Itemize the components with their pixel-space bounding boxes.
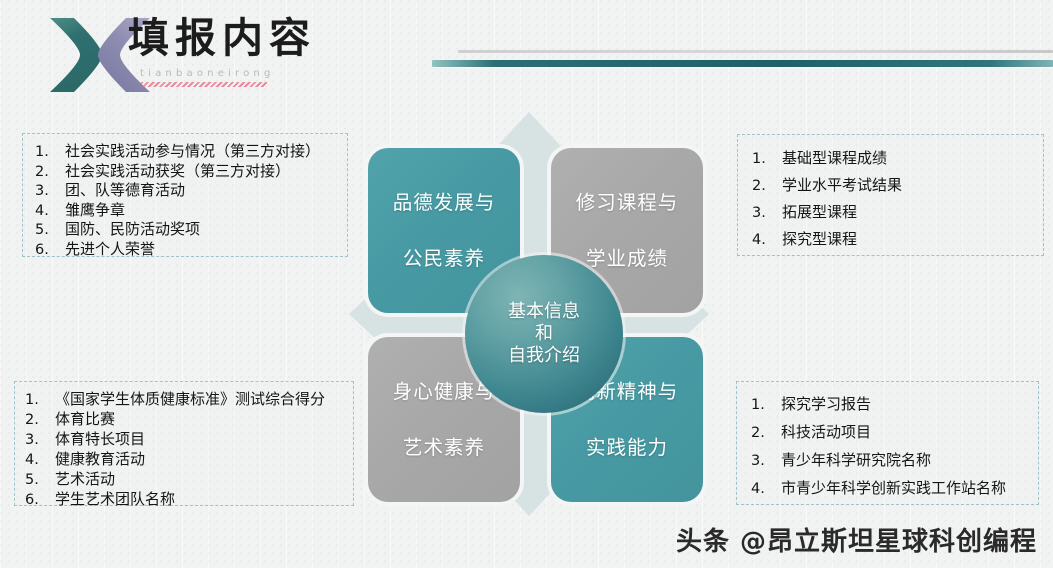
list-item: 2.学业水平考试结果 — [752, 172, 1037, 199]
list-item-label: 社会实践活动参与情况（第三方对接） — [65, 142, 341, 161]
list-item-number: 2. — [751, 420, 781, 447]
page-title: 填报内容 — [128, 17, 316, 60]
list-item-number: 1. — [752, 146, 782, 172]
list-item: 3.青少年科学研究院名称 — [751, 447, 1032, 475]
list-item-label: 探究型课程 — [782, 226, 1037, 252]
list-item-label: 拓展型课程 — [782, 199, 1037, 225]
list-item: 2.体育比赛 — [25, 410, 347, 430]
quadrant-line2: 公民素养 — [403, 249, 485, 269]
list-item-number: 5. — [35, 221, 65, 240]
list-item: 1.探究学习报告 — [751, 391, 1032, 419]
list-item: 3.体育特长项目 — [25, 430, 347, 450]
list-item-label: 团、队等德育活动 — [65, 181, 341, 200]
list-item-label: 学生艺术团队名称 — [55, 490, 347, 509]
header-rule-thick — [432, 60, 1053, 67]
list-item-label: 学业水平考试结果 — [782, 172, 1037, 198]
list-item-label: 体育特长项目 — [55, 430, 347, 449]
list-top-left: 1.社会实践活动参与情况（第三方对接） 2.社会实践活动获奖（第三方对接） 3.… — [35, 142, 341, 259]
quadrant-line1: 身心健康与 — [393, 382, 496, 402]
list-item-label: 基础型课程成绩 — [782, 145, 1037, 171]
list-bottom-left: 1.《国家学生体质健康标准》测试综合得分 2.体育比赛 3.体育特长项目 4.健… — [25, 390, 347, 510]
list-item: 4.市青少年科学创新实践工作站名称 — [751, 475, 1032, 503]
list-item: 6.学生艺术团队名称 — [25, 490, 347, 510]
list-item-label: 《国家学生体质健康标准》测试综合得分 — [55, 390, 347, 409]
list-item: 3.团、队等德育活动 — [35, 181, 341, 201]
list-item-number: 3. — [35, 182, 65, 201]
list-box-top-right: 1.基础型课程成绩 2.学业水平考试结果 3.拓展型课程 4.探究型课程 — [737, 134, 1044, 256]
quadrant-line1: 品德发展与 — [393, 193, 496, 213]
list-item: 6.先进个人荣誉 — [35, 240, 341, 260]
quadrant-line2: 学业成绩 — [586, 249, 668, 269]
list-box-top-left: 1.社会实践活动参与情况（第三方对接） 2.社会实践活动获奖（第三方对接） 3.… — [22, 133, 348, 257]
list-item-label: 艺术活动 — [55, 470, 347, 489]
list-item-number: 3. — [752, 200, 782, 226]
list-item: 2.社会实践活动获奖（第三方对接） — [35, 162, 341, 182]
list-item: 1.社会实践活动参与情况（第三方对接） — [35, 142, 341, 162]
quadrant-line2: 实践能力 — [586, 438, 668, 458]
center-line-2: 和 — [535, 323, 553, 345]
list-item: 4.健康教育活动 — [25, 450, 347, 470]
list-item-label: 科技活动项目 — [781, 419, 1032, 446]
list-item-number: 3. — [25, 431, 55, 450]
list-item-number: 2. — [752, 173, 782, 199]
list-item-number: 1. — [25, 391, 55, 410]
list-item-number: 6. — [25, 491, 55, 510]
list-item-label: 探究学习报告 — [781, 391, 1032, 418]
list-item-label: 健康教育活动 — [55, 450, 347, 469]
list-item-number: 1. — [751, 392, 781, 419]
list-item-label: 体育比赛 — [55, 410, 347, 429]
list-item-number: 4. — [35, 202, 65, 221]
list-item-number: 5. — [25, 471, 55, 490]
list-item-number: 3. — [751, 448, 781, 475]
list-item-number: 4. — [752, 227, 782, 253]
list-item-label: 雏鹰争章 — [65, 201, 341, 220]
list-item-label: 国防、民防活动奖项 — [65, 220, 341, 239]
list-item: 4.雏鹰争章 — [35, 201, 341, 221]
quadrant-line1: 修习课程与 — [576, 193, 679, 213]
subtitle-wave-underline — [141, 82, 267, 87]
center-line-1: 基本信息 — [508, 301, 580, 323]
list-item-label: 社会实践活动获奖（第三方对接） — [65, 162, 341, 181]
list-item: 2.科技活动项目 — [751, 419, 1032, 447]
list-box-bottom-right: 1.探究学习报告 2.科技活动项目 3.青少年科学研究院名称 4.市青少年科学创… — [736, 381, 1039, 505]
header-rule-thin — [458, 50, 1053, 53]
list-item: 4.探究型课程 — [752, 226, 1037, 253]
list-item-number: 4. — [25, 451, 55, 470]
page-subtitle: tianbaoneirong — [140, 68, 275, 79]
list-item-number: 4. — [751, 476, 781, 503]
list-item: 3.拓展型课程 — [752, 199, 1037, 226]
list-item: 1.《国家学生体质健康标准》测试综合得分 — [25, 390, 347, 410]
list-item: 5.国防、民防活动奖项 — [35, 220, 341, 240]
center-line-3: 自我介绍 — [508, 345, 580, 367]
list-item-number: 2. — [35, 163, 65, 182]
list-item: 1.基础型课程成绩 — [752, 145, 1037, 172]
center-hub-circle[interactable]: 基本信息 和 自我介绍 — [465, 255, 623, 413]
list-item-number: 6. — [35, 241, 65, 260]
list-top-right: 1.基础型课程成绩 2.学业水平考试结果 3.拓展型课程 4.探究型课程 — [752, 145, 1037, 253]
list-item-label: 青少年科学研究院名称 — [781, 447, 1032, 474]
list-box-bottom-left: 1.《国家学生体质健康标准》测试综合得分 2.体育比赛 3.体育特长项目 4.健… — [14, 381, 354, 506]
watermark-text: 头条 @昂立斯坦星球科创编程 — [676, 521, 1037, 558]
list-item-label: 先进个人荣誉 — [65, 240, 341, 259]
list-item-number: 2. — [25, 411, 55, 430]
slide-canvas: 填报内容 tianbaoneirong 品德发展与 公民素养 修习课程与 学业成… — [0, 0, 1053, 568]
list-bottom-right: 1.探究学习报告 2.科技活动项目 3.青少年科学研究院名称 4.市青少年科学创… — [751, 391, 1032, 503]
list-item: 5.艺术活动 — [25, 470, 347, 490]
list-item-label: 市青少年科学创新实践工作站名称 — [781, 475, 1032, 502]
quadrant-line2: 艺术素养 — [403, 438, 485, 458]
list-item-number: 1. — [35, 143, 65, 162]
